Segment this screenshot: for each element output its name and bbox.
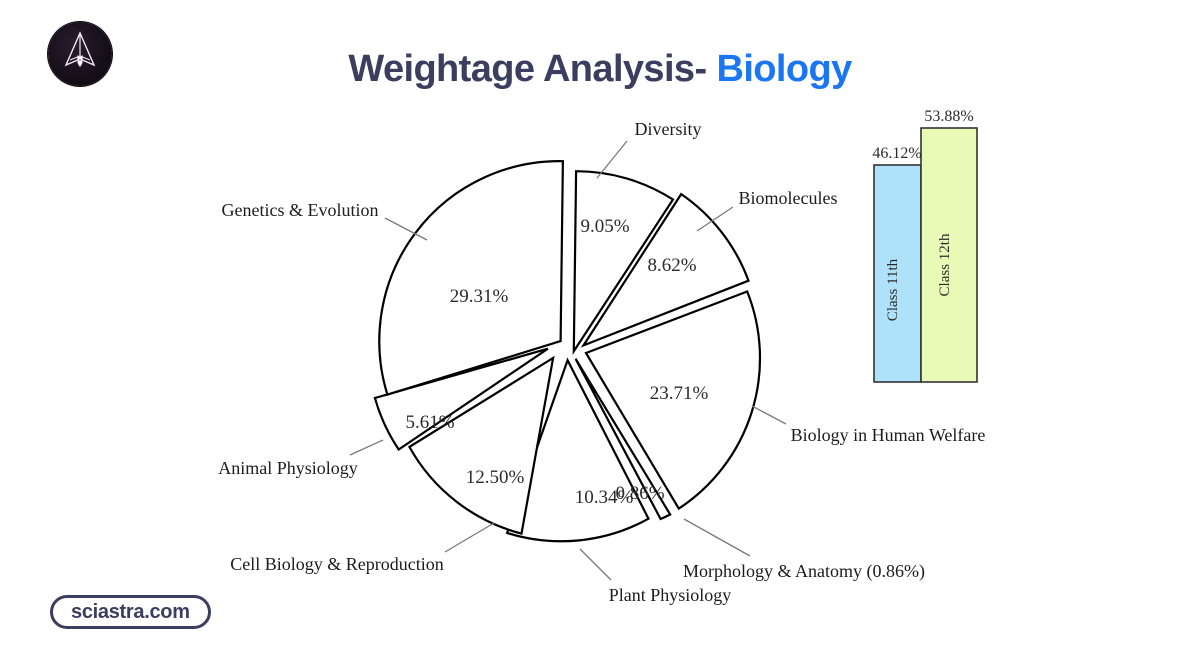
pie-value-animal-physiology: 5.61% — [405, 412, 454, 433]
leader-line-plant-physiology — [580, 549, 611, 580]
sciastra-badge[interactable]: sciastra.com — [50, 595, 211, 629]
pie-chart: 9.05% 8.62% 23.71% 0.86% 10.34% 12.50% 5… — [218, 119, 985, 605]
pie-value-diversity: 9.05% — [580, 216, 629, 237]
leader-line-cell-biology-reproduction — [445, 523, 494, 552]
sciastra-badge-label: sciastra.com — [71, 601, 190, 624]
pie-value-cell-biology-reproduction: 12.50% — [466, 467, 525, 488]
pie-label-morphology-anatomy: Morphology & Anatomy (0.86%) — [683, 561, 925, 582]
leader-line-animal-physiology — [350, 440, 383, 455]
bar-value-class-12th: 53.88% — [924, 108, 973, 125]
pie-value-plant-physiology: 10.34% — [575, 487, 634, 508]
bar-label-class-12th: Class 12th — [937, 233, 953, 296]
leader-line-morphology-anatomy — [684, 519, 750, 556]
pie-value-genetics-evolution: 29.31% — [450, 286, 509, 307]
pie-label-biomolecules: Biomolecules — [739, 188, 838, 208]
infographic-page: Weightage Analysis- Biology 9.05% 8.62% — [0, 0, 1200, 650]
pie-label-cell-biology-reproduction: Cell Biology & Reproduction — [230, 554, 444, 574]
pie-label-diversity: Diversity — [635, 119, 702, 139]
bar-label-class-11th: Class 11th — [885, 258, 901, 321]
bar-chart: 46.12% 53.88% Class 11th Class 12th — [872, 108, 977, 382]
pie-label-biology-in-human-welfare: Biology in Human Welfare — [791, 425, 986, 445]
pie-value-biomolecules: 8.62% — [647, 255, 696, 276]
pie-slice-genetics-evolution[interactable] — [379, 161, 563, 394]
leader-line-biology-in-human-welfare — [752, 406, 786, 424]
charts-canvas: 9.05% 8.62% 23.71% 0.86% 10.34% 12.50% 5… — [0, 0, 1200, 650]
leader-line-diversity — [597, 141, 627, 178]
pie-value-biology-in-human-welfare: 23.71% — [650, 383, 709, 404]
bar-value-class-11th: 46.12% — [872, 145, 921, 162]
pie-label-plant-physiology: Plant Physiology — [609, 585, 732, 605]
pie-label-animal-physiology: Animal Physiology — [218, 458, 358, 478]
pie-label-genetics-evolution: Genetics & Evolution — [222, 200, 379, 220]
